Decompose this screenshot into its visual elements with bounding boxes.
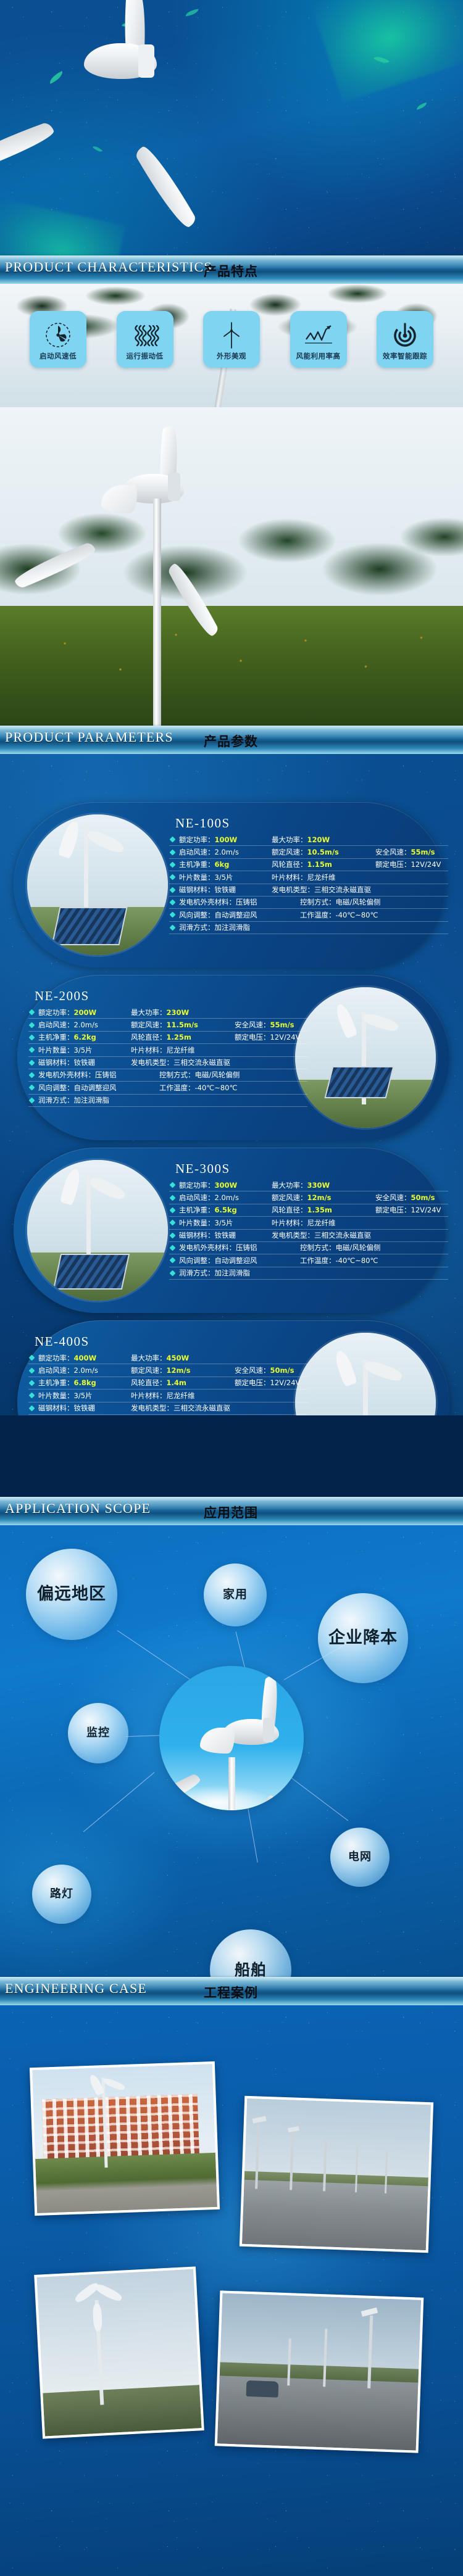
- turbine-hub: [168, 473, 180, 501]
- product-photo: [27, 1160, 168, 1301]
- spec-row: 发电机外壳材料：压铸铝 控制方式：电磁/风轮偏侧: [28, 1415, 307, 1415]
- spec-pair: 叶片材料：尼龙纤维: [272, 873, 375, 882]
- spec-pair: 主机净重：6kg: [179, 860, 272, 869]
- spec-pair: 主机净重：6.2kg: [38, 1033, 131, 1042]
- spec-pair: 启动风速：2.0m/s: [179, 848, 272, 856]
- spec-rows-ne100s: 额定功率：100W 最大功率：120W 启动风速：2.0m/s 额定风速：10.…: [169, 834, 448, 934]
- diamond-bullet-icon: [29, 1085, 35, 1091]
- spec-row: 叶片数量：3/5片 叶片材料：尼龙纤维: [28, 1389, 307, 1402]
- app-bubble-monitoring[interactable]: 监控: [68, 1703, 128, 1763]
- spec-pair: 启动风速：2.0m/s: [179, 1193, 272, 1202]
- section-banner-characteristics: PRODUCT CHARACTERISTICS 产品特点: [0, 255, 463, 284]
- spec-pair: 发电机类型：三相交流永磁直驱: [272, 1231, 375, 1240]
- turbine-blade: [133, 142, 198, 233]
- feature-label: 效率智能跟踪: [383, 353, 427, 360]
- diamond-bullet-icon: [170, 1232, 176, 1238]
- diamond-bullet-icon: [170, 1245, 176, 1251]
- spec-pair: 额定功率：200W: [38, 1008, 131, 1017]
- solar-panel: [325, 1066, 394, 1098]
- feature-item[interactable]: 外形美观: [203, 311, 260, 368]
- banner-title-cn: 产品参数: [204, 732, 258, 750]
- vehicle: [246, 2380, 279, 2398]
- case-photo-highway[interactable]: [215, 2290, 424, 2453]
- spec-rows-ne300s: 额定功率：300W 最大功率：330W 启动风速：2.0m/s 额定风速：12m…: [169, 1179, 448, 1280]
- spec-pair: 润滑方式：加注润滑脂: [38, 1096, 159, 1104]
- app-bubble-label: 路灯: [50, 1888, 73, 1901]
- spec-row: 额定功率：100W 最大功率：120W: [169, 834, 448, 846]
- spec-row: 额定功率：400W 最大功率：450W: [28, 1352, 307, 1364]
- product-photo: [295, 987, 436, 1128]
- turbine-shape-icon: [215, 321, 248, 349]
- diamond-bullet-icon: [29, 1009, 35, 1016]
- turbine-mast: [228, 1757, 235, 1810]
- spec-row: 发电机外壳材料：压铸铝 控制方式：电磁/风轮偏侧: [169, 1242, 448, 1254]
- product-field-photo: [0, 407, 463, 750]
- banner-title-cn: 工程案例: [204, 1983, 258, 2002]
- spec-body: NE-300S 额定功率：300W 最大功率：330W 启动风速：2.0m/s …: [169, 1161, 448, 1280]
- spec-pair: 控制方式：电磁/风轮偏侧: [300, 1243, 380, 1252]
- spec-pair: 发电机外壳材料：压铸铝: [38, 1071, 159, 1079]
- spec-pair: 额定电压：12V/24V: [235, 1378, 300, 1387]
- spec-pair: 额定风速：10.5m/s: [272, 848, 375, 856]
- turbine-tail-vane: [101, 485, 137, 513]
- feature-card[interactable]: 效率智能跟踪: [377, 311, 433, 368]
- app-bubble-label: 企业降本: [328, 1628, 398, 1647]
- spec-pair: 叶片材料：尼龙纤维: [131, 1391, 235, 1400]
- spec-row: 润滑方式：加注润滑脂: [28, 1095, 307, 1107]
- spec-pair: 安全风速：55m/s: [235, 1021, 294, 1029]
- hero-banner: PRODUCT CHARACTERISTICS 产品特点: [0, 0, 463, 284]
- spec-row: 磁钢材料：钕铁硼 发电机类型：三相交流永磁直驱: [169, 1230, 448, 1242]
- banner-title-cn: 产品特点: [204, 262, 258, 280]
- spec-pair: 启动风速：2.0m/s: [38, 1021, 131, 1029]
- turbine-hub: [263, 1718, 274, 1742]
- diamond-bullet-icon: [170, 1182, 176, 1188]
- turbine-mast: [84, 826, 88, 912]
- spec-pair: 磁钢材料：钕铁硼: [179, 1231, 272, 1240]
- spec-pair: 润滑方式：加注润滑脂: [179, 923, 300, 932]
- spec-row: 主机净重：6kg 风轮直径：1.15m 额定电压：12V/24V: [169, 859, 448, 871]
- app-bubble-household[interactable]: 家用: [204, 1563, 267, 1626]
- center-product-orb: [159, 1666, 304, 1810]
- model-name: NE-300S: [169, 1161, 448, 1177]
- spec-rows-ne400s: 额定功率：400W 最大功率：450W 启动风速：2.0m/s 额定风速：12m…: [28, 1352, 307, 1415]
- spec-pair: 最大功率：450W: [131, 1354, 235, 1362]
- photo-inner: [217, 2293, 421, 2450]
- spec-body: NE-200S 额定功率：200W 最大功率：230W 启动风速：2.0m/s …: [28, 988, 307, 1107]
- spec-pair: 额定风速：11.5m/s: [131, 1021, 235, 1029]
- spec-row: 发电机外壳材料：压铸铝 控制方式：电磁/风轮偏侧: [169, 897, 448, 909]
- diamond-bullet-icon: [170, 1220, 176, 1226]
- solar-panel: [53, 1254, 130, 1290]
- diamond-bullet-icon: [170, 837, 176, 843]
- diamond-bullet-icon: [29, 1072, 35, 1079]
- spec-row: 叶片数量：3/5片 叶片材料：尼龙纤维: [169, 871, 448, 884]
- spec-pair: 最大功率：230W: [131, 1008, 235, 1017]
- spec-pair: 额定电压：12V/24V: [375, 1206, 441, 1214]
- app-bubble-label: 监控: [86, 1727, 110, 1740]
- spec-row: 磁钢材料：钕铁硼 发电机类型：三相交流永磁直驱: [169, 884, 448, 897]
- feature-card[interactable]: 运行振动低: [117, 311, 173, 368]
- spec-pair: 风向调整：自动调整迎风: [179, 1256, 300, 1265]
- spec-pair: 最大功率：120W: [272, 835, 375, 844]
- spec-row: 叶片数量：3/5片 叶片材料：尼龙纤维: [28, 1044, 307, 1056]
- spec-pair: 叶片数量：3/5片: [38, 1046, 131, 1054]
- spec-row: 风向调整：自动调整迎风 工作温度：-40℃~80℃: [28, 1082, 307, 1094]
- application-scope-section: 偏远地区 家用 企业降本 监控 电网 路灯 船舶: [0, 1525, 463, 1982]
- spec-pair: 发电机类型：三相交流永磁直驱: [272, 885, 375, 894]
- app-bubble-street-light[interactable]: 路灯: [32, 1865, 91, 1924]
- product-detail-page: PRODUCT CHARACTERISTICS 产品特点 启动风速低: [0, 0, 463, 2576]
- feature-item[interactable]: 风能利用率高: [290, 311, 347, 368]
- spec-pair: 润滑方式：加注润滑脂: [179, 1269, 300, 1277]
- spec-row: 启动风速：2.0m/s 额定风速：12m/s 安全风速：50m/s: [28, 1364, 307, 1377]
- spec-pair: 风轮直径：1.25m: [131, 1033, 235, 1042]
- photo-ground: [43, 2385, 201, 2436]
- spec-pair: 叶片材料：尼龙纤维: [272, 1219, 375, 1227]
- app-bubble-label: 家用: [223, 1588, 248, 1602]
- spec-pair: 安全风速：55m/s: [375, 848, 435, 856]
- photo-inner: [36, 2269, 201, 2437]
- spec-card-ne200s: NE-200S 额定功率：200W 最大功率：230W 启动风速：2.0m/s …: [17, 975, 449, 1140]
- spec-row: 主机净重：6.2kg 风轮直径：1.25m 额定电压：12V/24V: [28, 1032, 307, 1044]
- banner-title-en: APPLICATION SCOPE: [5, 1501, 151, 1517]
- banner-title-en: ENGINEERING CASE: [5, 1981, 147, 1997]
- diamond-bullet-icon: [29, 1097, 35, 1103]
- feature-card[interactable]: 风能利用率高: [290, 311, 347, 368]
- product-photo: [295, 1333, 436, 1415]
- spec-row: 磁钢材料：钕铁硼 发电机类型：三相交流永磁直驱: [28, 1402, 307, 1415]
- diamond-bullet-icon: [170, 861, 176, 868]
- diamond-bullet-icon: [29, 1034, 35, 1040]
- spec-pair: 发电机外壳材料：压铸铝: [179, 1243, 300, 1252]
- spec-pair: 主机净重：6.8kg: [38, 1378, 131, 1387]
- wind-rotor-icon: [42, 321, 74, 349]
- photo-inner: [242, 2098, 431, 2250]
- diamond-bullet-icon: [170, 1207, 176, 1213]
- solar-panel: [51, 907, 127, 945]
- spec-pair: 发电机类型：三相交流永磁直驱: [131, 1058, 235, 1067]
- feature-item[interactable]: 运行振动低: [117, 311, 173, 368]
- spec-body: NE-400S 额定功率：400W 最大功率：450W 启动风速：2.0m/s …: [28, 1334, 307, 1415]
- feature-list: 启动风速低 运行振动低: [0, 311, 463, 368]
- feature-card[interactable]: 启动风速低: [30, 311, 86, 368]
- banner-title-en: PRODUCT CHARACTERISTICS: [5, 259, 212, 275]
- spec-pair: 叶片数量：3/5片: [179, 1219, 272, 1227]
- diamond-bullet-icon: [170, 1195, 176, 1201]
- feature-card[interactable]: 外形美观: [203, 311, 260, 368]
- spec-card-ne100s: NE-100S 额定功率：100W 最大功率：120W 启动风速：2.0m/s …: [14, 802, 446, 967]
- connector-line: [83, 1772, 155, 1832]
- spec-pair: 额定风速：12m/s: [131, 1366, 235, 1375]
- turbine-blade: [0, 121, 57, 175]
- spec-pair: 控制方式：电磁/风轮偏侧: [300, 898, 380, 906]
- product-photo: [27, 814, 168, 955]
- spec-row: 额定功率：300W 最大功率：330W: [169, 1179, 448, 1191]
- diamond-bullet-icon: [29, 1393, 35, 1399]
- spec-pair: 主机净重：6.5kg: [179, 1206, 272, 1214]
- model-name: NE-400S: [28, 1334, 307, 1349]
- spec-rows-ne200s: 额定功率：200W 最大功率：230W 启动风速：2.0m/s 额定风速：11.…: [28, 1006, 307, 1107]
- spec-row: 启动风速：2.0m/s 额定风速：12m/s 安全风速：50m/s: [169, 1191, 448, 1204]
- section-banner-application: APPLICATION SCOPE 应用范围: [0, 1497, 463, 1525]
- diamond-bullet-icon: [29, 1022, 35, 1028]
- spec-pair: 叶片数量：3/5片: [38, 1391, 131, 1400]
- road: [242, 2180, 428, 2250]
- features-photo-band: 启动风速低 运行振动低: [0, 284, 463, 407]
- photo-inner: [32, 2064, 217, 2213]
- spec-row: 启动风速：2.0m/s 额定风速：10.5m/s 安全风速：55m/s: [169, 846, 448, 858]
- diamond-bullet-icon: [29, 1367, 35, 1373]
- field-wind-turbine: [62, 428, 284, 552]
- diamond-bullet-icon: [170, 874, 176, 880]
- spec-pair: 磁钢材料：钕铁硼: [179, 885, 272, 894]
- spec-row: 发电机外壳材料：压铸铝 控制方式：电磁/风轮偏侧: [28, 1069, 307, 1082]
- spec-pair: 额定电压：12V/24V: [235, 1033, 300, 1042]
- spec-pair: 额定风速：12m/s: [272, 1193, 375, 1202]
- spec-row: 磁钢材料：钕铁硼 发电机类型：三相交流永磁直驱: [28, 1057, 307, 1069]
- diamond-bullet-icon: [170, 1257, 176, 1264]
- feature-item[interactable]: 效率智能跟踪: [377, 311, 433, 368]
- spec-pair: 磁钢材料：钕铁硼: [38, 1404, 131, 1412]
- app-bubble-enterprise-cost[interactable]: 企业降本: [318, 1593, 408, 1683]
- spec-pair: 工作温度：-40℃~80℃: [300, 1256, 378, 1265]
- spec-pair: 控制方式：电磁/风轮偏侧: [159, 1071, 240, 1079]
- diamond-bullet-icon: [29, 1059, 35, 1066]
- spec-pair: 工作温度：-40℃~80℃: [159, 1083, 237, 1092]
- spec-row: 主机净重：6.5kg 风轮直径：1.35m 额定电压：12V/24V: [169, 1204, 448, 1217]
- spec-row: 启动风速：2.0m/s 额定风速：11.5m/s 安全风速：55m/s: [28, 1019, 307, 1031]
- spec-card-ne400s: NE-400S 额定功率：400W 最大功率：450W 启动风速：2.0m/s …: [17, 1320, 449, 1415]
- banner-title-en: PRODUCT PARAMETERS: [5, 729, 173, 745]
- spec-pair: 磁钢材料：钕铁硼: [38, 1058, 131, 1067]
- diamond-bullet-icon: [170, 1270, 176, 1276]
- diamond-bullet-icon: [29, 1047, 35, 1053]
- turbine-hub: [138, 44, 154, 78]
- spec-body: NE-100S 额定功率：100W 最大功率：120W 启动风速：2.0m/s …: [169, 816, 448, 934]
- case-photo-building[interactable]: [30, 2061, 220, 2216]
- diamond-bullet-icon: [29, 1405, 35, 1411]
- spec-pair: 风向调整：自动调整迎风: [38, 1083, 159, 1092]
- diamond-bullet-icon: [170, 849, 176, 855]
- spec-pair: 额定电压：12V/24V: [375, 860, 441, 869]
- app-bubble-power-grid[interactable]: 电网: [330, 1828, 390, 1887]
- spec-row: 主机净重：6.8kg 风轮直径：1.4m 额定电压：12V/24V: [28, 1377, 307, 1389]
- photo-ground: [35, 2153, 217, 2213]
- model-name: NE-100S: [169, 816, 448, 831]
- section-banner-engineering: ENGINEERING CASE 工程案例: [0, 1977, 463, 2005]
- model-name: NE-200S: [28, 988, 307, 1004]
- spec-pair: 额定功率：100W: [179, 835, 272, 844]
- chart-trend-icon: [302, 321, 335, 349]
- spec-row: 风向调整：自动调整迎风 工作温度：-40℃~80℃: [169, 909, 448, 921]
- product-parameters-section: NE-100S 额定功率：100W 最大功率：120W 启动风速：2.0m/s …: [0, 754, 463, 1415]
- app-bubble-ship[interactable]: 船舶: [210, 1929, 291, 1982]
- diamond-bullet-icon: [170, 924, 176, 930]
- spec-pair: 风轮直径：1.35m: [272, 1206, 375, 1214]
- turbine-tower-mast: [153, 499, 161, 748]
- feature-label: 外形美观: [217, 353, 246, 360]
- spec-pair: 发电机类型：三相交流永磁直驱: [131, 1404, 235, 1412]
- section-banner-parameters: PRODUCT PARAMETERS 产品参数: [0, 726, 463, 754]
- spec-pair: 工作温度：-40℃~80℃: [300, 911, 378, 919]
- spec-row: 润滑方式：加注润滑脂: [169, 1267, 448, 1280]
- spec-pair: 风轮直径：1.4m: [131, 1378, 235, 1387]
- spec-pair: 叶片数量：3/5片: [179, 873, 272, 882]
- case-photo-dusk-turbine[interactable]: [34, 2266, 204, 2438]
- engineering-case-section: [0, 2005, 463, 2576]
- diamond-bullet-icon: [170, 912, 176, 918]
- feature-item[interactable]: 启动风速低: [30, 311, 86, 368]
- diamond-bullet-icon: [29, 1355, 35, 1361]
- feature-label: 风能利用率高: [296, 353, 341, 360]
- diamond-bullet-icon: [170, 887, 176, 893]
- case-photo-street-lights[interactable]: [240, 2096, 433, 2253]
- turbine-tail-vane: [200, 1728, 235, 1754]
- banner-title-cn: 应用范围: [204, 1503, 258, 1522]
- spec-row: 润滑方式：加注润滑脂: [169, 922, 448, 934]
- spec-pair: 额定功率：400W: [38, 1354, 131, 1362]
- vibration-waves-icon: [129, 321, 161, 349]
- spec-pair: 安全风速：50m/s: [375, 1193, 435, 1202]
- spec-pair: 额定功率：300W: [179, 1181, 272, 1190]
- app-bubble-label: 偏远地区: [37, 1584, 106, 1604]
- feature-label: 启动风速低: [40, 353, 77, 360]
- spec-pair: 风轮直径：1.15m: [272, 860, 375, 869]
- spec-pair: 风向调整：自动调整迎风: [179, 911, 300, 919]
- spec-row: 额定功率：200W 最大功率：230W: [28, 1006, 307, 1019]
- spec-pair: 最大功率：330W: [272, 1181, 375, 1190]
- leaf-icon: [415, 102, 427, 110]
- spec-row: 风向调整：自动调整迎风 工作温度：-40℃~80℃: [169, 1254, 448, 1267]
- spec-row: 叶片数量：3/5片 叶片材料：尼龙纤维: [169, 1217, 448, 1229]
- diamond-bullet-icon: [29, 1380, 35, 1386]
- spec-pair: 安全风速：50m/s: [235, 1366, 294, 1375]
- hero-wind-turbine-illustration: [11, 0, 277, 155]
- diamond-bullet-icon: [170, 900, 176, 906]
- app-bubble-remote-area[interactable]: 偏远地区: [26, 1549, 117, 1640]
- spec-card-ne300s: NE-300S 额定功率：300W 最大功率：330W 启动风速：2.0m/s …: [14, 1148, 446, 1313]
- feature-label: 运行振动低: [127, 353, 164, 360]
- target-tracking-icon: [389, 321, 421, 349]
- spec-pair: 启动风速：2.0m/s: [38, 1366, 131, 1375]
- app-bubble-label: 电网: [348, 1851, 372, 1864]
- spec-pair: 叶片材料：尼龙纤维: [131, 1046, 235, 1054]
- green-glow-right: [307, 0, 463, 102]
- spec-pair: 发电机外壳材料：压铸铝: [179, 898, 300, 906]
